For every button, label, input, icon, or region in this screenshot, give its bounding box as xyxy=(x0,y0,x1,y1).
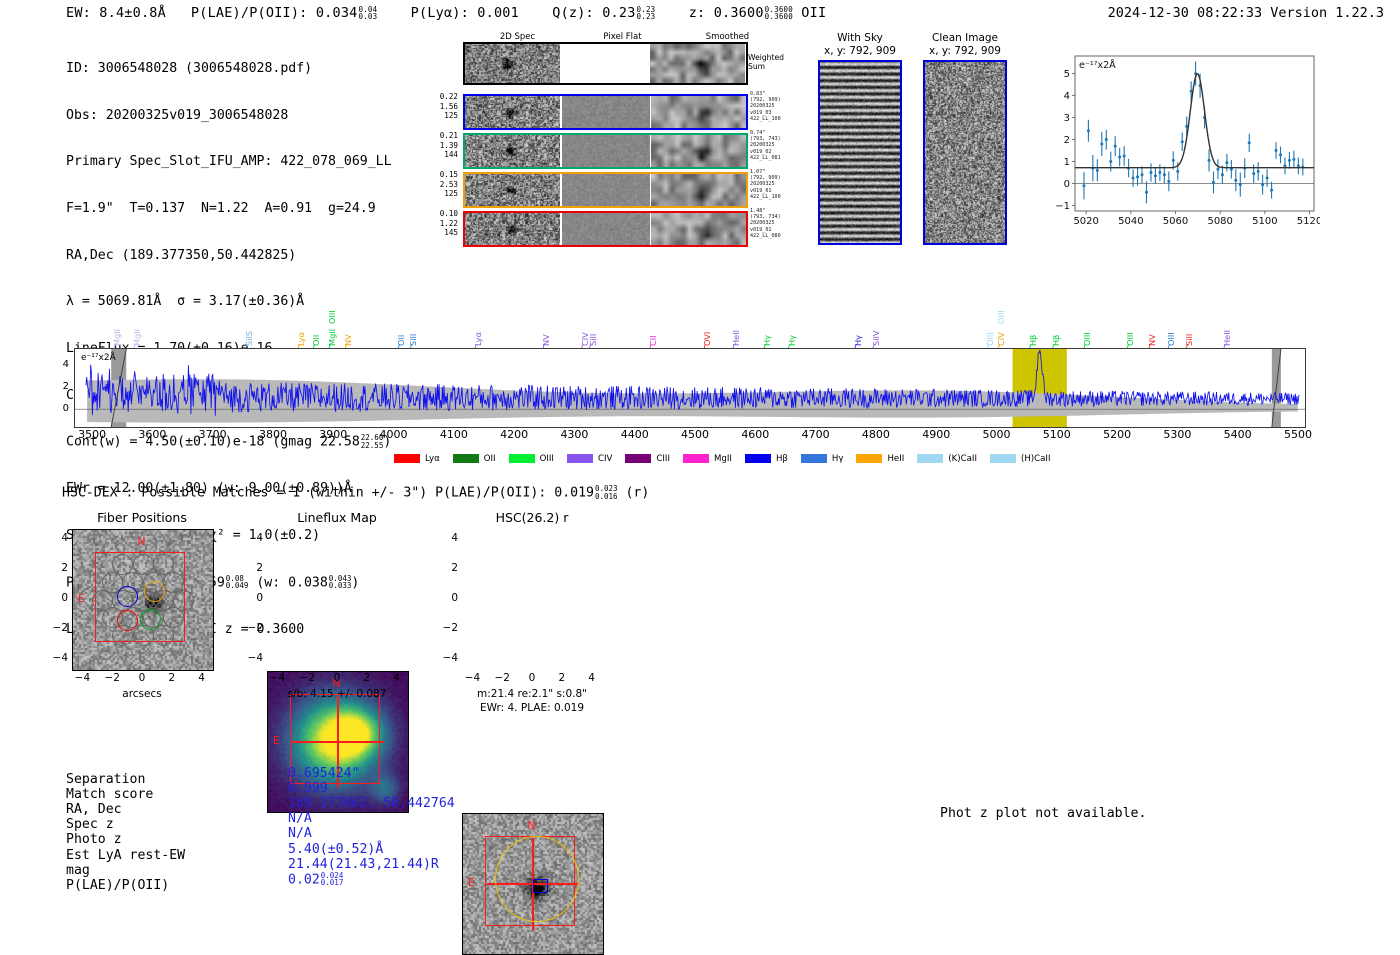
ew-summary: EW: 8.4±0.8Å xyxy=(66,5,166,21)
cutout-y-tick: −4 xyxy=(50,652,68,664)
cutout-x-tick: −4 xyxy=(70,672,94,684)
match-table-value: 189.377062, 50.442764 xyxy=(288,796,455,811)
sky-clean-cutouts: With Skyx, y: 792, 909Clean Imagex, y: 7… xyxy=(818,32,1018,247)
fiber-circle xyxy=(173,590,194,611)
fiber-circle xyxy=(153,554,174,575)
cutout-x-tick: 4 xyxy=(190,672,214,684)
cutout-y-tick: 0 xyxy=(440,592,458,604)
spectrum-x-tick: 4900 xyxy=(912,428,960,441)
legend-item: CIV xyxy=(567,454,612,464)
legend-label: MgII xyxy=(714,454,732,464)
with-sky-image xyxy=(818,60,902,245)
legend-swatch xyxy=(990,454,1016,463)
emission-line-label: NV xyxy=(1147,304,1157,346)
cutout-x-tick: 0 xyxy=(130,672,154,684)
emission-line-label: NV xyxy=(541,304,551,346)
qz-errors: 0.230.23 xyxy=(637,6,656,21)
legend-item: (H)CaII xyxy=(990,454,1051,464)
svg-text:3: 3 xyxy=(1064,113,1070,124)
legend-label: CIII xyxy=(656,454,670,464)
spectrum-x-tick: 4100 xyxy=(430,428,478,441)
spectrum-x-tick: 4500 xyxy=(671,428,719,441)
full-spectrum-panel: MgII(MgII(SiIS(Lyα(OII(MgII(OIIINV(OII(S… xyxy=(74,276,1306,466)
match-table-value: N/A xyxy=(288,826,312,841)
spectrum-legend: LyαOIIOIIICIVCIIIMgIIHβHγHeII(K)CaII(H)C… xyxy=(394,448,1034,462)
cutout-x-tick: 0 xyxy=(520,672,544,684)
svg-text:1: 1 xyxy=(1064,157,1070,168)
legend-label: OII xyxy=(484,454,496,464)
cutout-y-tick: 4 xyxy=(440,532,458,544)
weighted-sum-label: Weighted Sum xyxy=(748,54,808,71)
svg-text:5100: 5100 xyxy=(1252,216,1277,227)
spectrum-x-tick: 4400 xyxy=(611,428,659,441)
emission-line-label: NV xyxy=(343,304,353,346)
emission-line-label: OIII xyxy=(1125,304,1135,346)
hsc-dex-header-text: HSC-DEX : Possible Matches = 1 (within +… xyxy=(62,485,594,500)
cutout-panel-title: Lineflux Map xyxy=(237,510,437,525)
cutout-y-tick: 2 xyxy=(50,562,68,574)
spec2d-row xyxy=(463,172,748,208)
spectrum-x-tick: 5200 xyxy=(1093,428,1141,441)
plae-poii-errors: 0.040.03 xyxy=(358,6,377,21)
spectrum-x-tick: 4600 xyxy=(731,428,779,441)
svg-text:5080: 5080 xyxy=(1207,216,1232,227)
cutout-y-tick: 4 xyxy=(245,532,263,544)
emission-line-label: MgII xyxy=(112,304,122,346)
emission-line-label: SiIV xyxy=(871,304,881,346)
spec2d-row-metric: 0.21 1.39 144 xyxy=(426,131,458,160)
emission-line-label: Lyα xyxy=(296,304,306,346)
highlighted-fiber-circle-0 xyxy=(117,586,138,607)
cutout-y-tick: −2 xyxy=(245,622,263,634)
detection-marker-box xyxy=(533,879,548,893)
legend-label: CIV xyxy=(598,454,612,464)
z-species: OII xyxy=(801,5,826,21)
cutout-x-tick: −4 xyxy=(265,672,289,684)
emission-line-label: Hγ xyxy=(762,304,772,346)
hsc-dex-errors: 0.0230.016 xyxy=(595,485,618,500)
cutout-title: Clean Image xyxy=(923,32,1007,44)
hsc-dex-header: HSC-DEX : Possible Matches = 1 (within +… xyxy=(62,485,649,500)
match-table-value: 0.695424" xyxy=(288,766,359,781)
match-table-key: Spec z xyxy=(66,817,114,832)
legend-swatch xyxy=(453,454,479,463)
hsc-r-image: NE xyxy=(462,813,604,955)
match-table-key: Separation xyxy=(66,772,145,787)
emission-line-label: MgII xyxy=(132,304,142,346)
plya-summary: P(Lyα): 0.001 xyxy=(411,5,519,21)
match-table-value: 0.020.0240.017 xyxy=(288,872,343,887)
timestamp-version: 2024-12-30 08:22:33 Version 1.22.3 xyxy=(1108,5,1384,21)
svg-text:5060: 5060 xyxy=(1163,216,1188,227)
cutout-y-tick: −2 xyxy=(50,622,68,634)
cutout-x-tick: −2 xyxy=(490,672,514,684)
spec2d-row-annotation: 0.83" (792, 909) 20200325 v019_03 422_LL… xyxy=(750,91,808,122)
spectrum-y-tick: 2 xyxy=(63,381,69,392)
cutout-sublabel: arcsecs xyxy=(37,688,247,700)
cutout-x-tick: −2 xyxy=(295,672,319,684)
panel-title-smoothed: Smoothed xyxy=(680,32,775,42)
legend-item: OIII xyxy=(509,454,554,464)
legend-label: (K)CaII xyxy=(948,454,977,464)
emission-line-label: OII xyxy=(396,304,406,346)
svg-text:e⁻¹⁷x2Å: e⁻¹⁷x2Å xyxy=(81,351,117,363)
row-smoothed-image xyxy=(651,174,746,206)
legend-swatch xyxy=(745,454,771,463)
emission-line-label: Hβ xyxy=(1051,304,1061,346)
spectrum-x-tick: 3800 xyxy=(249,428,297,441)
cutout-x-tick: 2 xyxy=(355,672,379,684)
cutout-x-tick: 2 xyxy=(550,672,574,684)
spectrum-x-tick: 3500 xyxy=(68,428,116,441)
row-pixelflat-image xyxy=(562,213,650,245)
emission-line-label: Hγ xyxy=(853,304,863,346)
emission-line-label: SiIS xyxy=(244,304,254,346)
spectrum-x-tick: 5400 xyxy=(1214,428,1262,441)
spec2d-row xyxy=(463,94,748,130)
row-pixelflat-image xyxy=(562,135,650,167)
emission-line-label: SiII xyxy=(1184,304,1194,346)
legend-item: HeII xyxy=(856,454,904,464)
spectrum-x-axis: 3500360037003800390040004100420043004400… xyxy=(74,428,1306,444)
highlighted-fiber-circle-1 xyxy=(144,581,165,602)
svg-text:5040: 5040 xyxy=(1118,216,1143,227)
summary-header: EW: 8.4±0.8Å P(LAE)/P(OII): 0.0340.040.0… xyxy=(66,5,826,21)
emission-line-label: OIII xyxy=(1082,304,1092,346)
spectrum-x-tick: 4300 xyxy=(550,428,598,441)
legend-swatch xyxy=(856,454,882,463)
cutout-sublabel: s/b: 4.15 +/- 0.087 xyxy=(232,688,442,700)
emission-line-label: CII xyxy=(648,304,658,346)
fiber-circle xyxy=(112,554,133,575)
spectrum-x-tick: 4000 xyxy=(370,428,418,441)
legend-item: OII xyxy=(453,454,496,464)
emission-line-label: OIII xyxy=(1166,304,1176,346)
legend-label: Hγ xyxy=(832,454,844,464)
row-2dspec-image xyxy=(465,213,560,245)
svg-text:e⁻¹⁷x2Å: e⁻¹⁷x2Å xyxy=(1079,59,1116,71)
emission-line-markers: MgII(MgII(SiIS(Lyα(OII(MgII(OIIINV(OII(S… xyxy=(74,276,1306,348)
emission-line-label: OII xyxy=(311,304,321,346)
qz-summary: Q(z): 0.23 xyxy=(552,5,635,21)
legend-label: (H)CaII xyxy=(1021,454,1051,464)
fiber-positions-image: NE xyxy=(72,529,214,671)
match-table-key: P(LAE)/P(OII) xyxy=(66,878,169,893)
cutout-y-tick: −2 xyxy=(440,622,458,634)
legend-label: Lyα xyxy=(425,454,440,464)
emission-line-label: Hβ xyxy=(1028,304,1038,346)
legend-item: Lyα xyxy=(394,454,440,464)
highlighted-fiber-circle-2 xyxy=(117,610,138,631)
spectrum-y-axis: 024 xyxy=(49,349,71,427)
plae-poii-summary: P(LAE)/P(OII): 0.034 xyxy=(191,5,358,21)
legend-label: OIII xyxy=(540,454,554,464)
cutout-y-tick: 4 xyxy=(50,532,68,544)
legend-swatch xyxy=(683,454,709,463)
emission-line-label: Hγ xyxy=(787,304,797,346)
z-errors: 0.36000.3600 xyxy=(765,6,793,21)
spectrum-x-tick: 3900 xyxy=(309,428,357,441)
full-spectrum-svg: e⁻¹⁷x2Å xyxy=(75,349,1305,427)
east-direction-label: E xyxy=(468,876,475,889)
spec2d-row-annotation: 0.74" (793, 743) 20200325 v019_02 422_LL… xyxy=(750,130,808,161)
legend-item: MgII xyxy=(683,454,732,464)
panel-title-2dspec: 2D Spec xyxy=(470,32,565,42)
spectrum-x-tick: 5500 xyxy=(1274,428,1322,441)
spec2d-stack xyxy=(463,42,748,247)
spectrum-x-tick: 5000 xyxy=(973,428,1021,441)
spectrum-y-tick: 4 xyxy=(63,359,69,370)
cutout-y-tick: −4 xyxy=(245,652,263,664)
emission-line-label: OIII xyxy=(996,282,1006,324)
fiber-circle xyxy=(133,554,154,575)
spec2d-row-annotation: 1.48" (793, 734) 20200325 v019_01 422_LL… xyxy=(750,208,808,239)
cutout-x-tick: −2 xyxy=(100,672,124,684)
svg-text:5020: 5020 xyxy=(1073,216,1098,227)
east-direction-label: E xyxy=(78,592,85,605)
legend-item: CIII xyxy=(625,454,670,464)
emission-line-label: OVI xyxy=(702,304,712,346)
photz-note: Phot z plot not available. xyxy=(940,806,1146,821)
emission-line-label: OIII xyxy=(327,282,337,324)
svg-text:2: 2 xyxy=(1064,135,1070,146)
row-2dspec-image xyxy=(465,96,560,128)
spectrum-x-tick: 5100 xyxy=(1033,428,1081,441)
spec2d-row-metric: 0.22 1.56 125 xyxy=(426,92,458,121)
spec2d-row-annotation: 1.07" (792, 909) 20200325 v019_01 422_LL… xyxy=(750,169,808,200)
row-smoothed-image xyxy=(651,213,746,245)
match-table-value: 21.44(21.43,21.44)R xyxy=(288,857,439,872)
row-smoothed-image xyxy=(651,96,746,128)
svg-text:5: 5 xyxy=(1064,69,1070,80)
row-2dspec-image xyxy=(465,135,560,167)
panel-title-pixelflat: Pixel Flat xyxy=(575,32,670,42)
info-seeing: F=1.9" T=0.137 N=1.22 A=0.91 g=24.9 xyxy=(66,201,392,217)
cutout-x-tick: −4 xyxy=(460,672,484,684)
svg-text:5120: 5120 xyxy=(1297,216,1320,227)
cutout-y-tick: −4 xyxy=(440,652,458,664)
emission-line-label: SiII xyxy=(588,304,598,346)
east-direction-label: E xyxy=(273,734,280,747)
fiber-circle xyxy=(92,590,113,611)
spec2d-row-metric: 0.10 1.22 145 xyxy=(426,209,458,238)
spectrum-x-tick: 4200 xyxy=(490,428,538,441)
cutout-x-tick: 4 xyxy=(385,672,409,684)
emission-line-label: OIII xyxy=(985,304,995,346)
legend-label: Hβ xyxy=(776,454,788,464)
cutout-panel-row: Fiber PositionsNE−4−4−2−2002244arcsecsLi… xyxy=(40,510,640,725)
svg-text:0: 0 xyxy=(1064,179,1070,190)
highlighted-fiber-circle-3 xyxy=(140,609,161,630)
emission-line-label: Lyα xyxy=(473,304,483,346)
spectrum-x-tick: 3600 xyxy=(128,428,176,441)
info-slot: Primary Spec_Slot_IFU_AMP: 422_078_069_L… xyxy=(66,154,392,170)
z-summary: z: 0.3600 xyxy=(689,5,764,21)
spec2d-row xyxy=(463,133,748,169)
legend-swatch xyxy=(917,454,943,463)
cutout-coords: x, y: 792, 909 xyxy=(923,45,1007,57)
cutout-x-tick: 0 xyxy=(325,672,349,684)
legend-swatch xyxy=(509,454,535,463)
cutout-panel-title: Fiber Positions xyxy=(42,510,242,525)
emission-line-zoom-plot: −1012345502050405060508051005120e⁻¹⁷x2Å xyxy=(1035,48,1320,233)
info-obs: Obs: 20200325v019_3006548028 xyxy=(66,108,392,124)
emission-line-zoom-svg: −1012345502050405060508051005120e⁻¹⁷x2Å xyxy=(1035,48,1320,233)
match-table-key: Photo z xyxy=(66,832,122,847)
cutout-title: With Sky xyxy=(818,32,902,44)
spec2d-row-metric: 0.15 2.53 125 xyxy=(426,170,458,199)
spec2d-row xyxy=(463,211,748,247)
weighted-smoothed-image xyxy=(650,44,745,83)
emission-line-label: SiII xyxy=(408,304,418,346)
info-radec: RA,Dec (189.377350,50.442825) xyxy=(66,248,392,264)
legend-swatch xyxy=(567,454,593,463)
spectrum-plot-area: e⁻¹⁷x2Å024 xyxy=(74,348,1306,428)
cutout-sublabel: m:21.4 re:2.1" s:0.8" xyxy=(427,688,637,700)
cutout-y-tick: 0 xyxy=(50,592,68,604)
cutout-coords: x, y: 792, 909 xyxy=(818,45,902,57)
match-table-key: Est LyA rest-EW xyxy=(66,848,185,863)
spectrum-x-tick: 4700 xyxy=(792,428,840,441)
legend-item: (K)CaII xyxy=(917,454,977,464)
spectrum-y-tick: 0 xyxy=(63,403,69,414)
info-id: ID: 3006548028 (3006548028.pdf) xyxy=(66,61,392,77)
cutout-sublabel-2: EWr: 4. PLAE: 0.019 xyxy=(427,702,637,714)
row-pixelflat-image xyxy=(562,96,650,128)
clean-image xyxy=(923,60,1007,245)
match-table-value: 0.999 xyxy=(288,781,328,796)
cutout-panel-title: HSC(26.2) r xyxy=(432,510,632,525)
match-table-value: 5.40(±0.52)Å xyxy=(288,842,383,857)
cutout-y-tick: 2 xyxy=(440,562,458,574)
weighted-2dspec-image xyxy=(465,44,560,83)
emission-line-label: HeII xyxy=(1222,304,1232,346)
match-table-value: N/A xyxy=(288,811,312,826)
match-table-key: Match score xyxy=(66,787,153,802)
cutout-y-tick: 0 xyxy=(245,592,263,604)
row-smoothed-image xyxy=(651,135,746,167)
legend-swatch xyxy=(394,454,420,463)
legend-swatch xyxy=(801,454,827,463)
svg-text:−1: −1 xyxy=(1055,201,1070,212)
spec2d-weighted-sum-row xyxy=(463,42,748,85)
legend-label: HeII xyxy=(887,454,904,464)
hsc-dex-filter: (r) xyxy=(625,485,649,500)
legend-item: Hγ xyxy=(801,454,844,464)
legend-swatch xyxy=(625,454,651,463)
svg-text:4: 4 xyxy=(1064,91,1070,102)
row-2dspec-image xyxy=(465,174,560,206)
match-plae-errors: 0.0240.017 xyxy=(321,872,344,887)
spectrum-x-tick: 5300 xyxy=(1153,428,1201,441)
row-pixelflat-image xyxy=(562,174,650,206)
spectrum-x-tick: 4800 xyxy=(852,428,900,441)
cutout-x-tick: 4 xyxy=(580,672,604,684)
cutout-x-tick: 2 xyxy=(160,672,184,684)
north-direction-label: N xyxy=(527,819,535,832)
emission-line-label: HeII xyxy=(731,304,741,346)
cutout-y-tick: 2 xyxy=(245,562,263,574)
spectrum-x-tick: 3700 xyxy=(189,428,237,441)
match-table-key: RA, Dec xyxy=(66,802,122,817)
match-table-key: mag xyxy=(66,863,90,878)
legend-item: Hβ xyxy=(745,454,788,464)
north-direction-label: N xyxy=(137,535,145,548)
